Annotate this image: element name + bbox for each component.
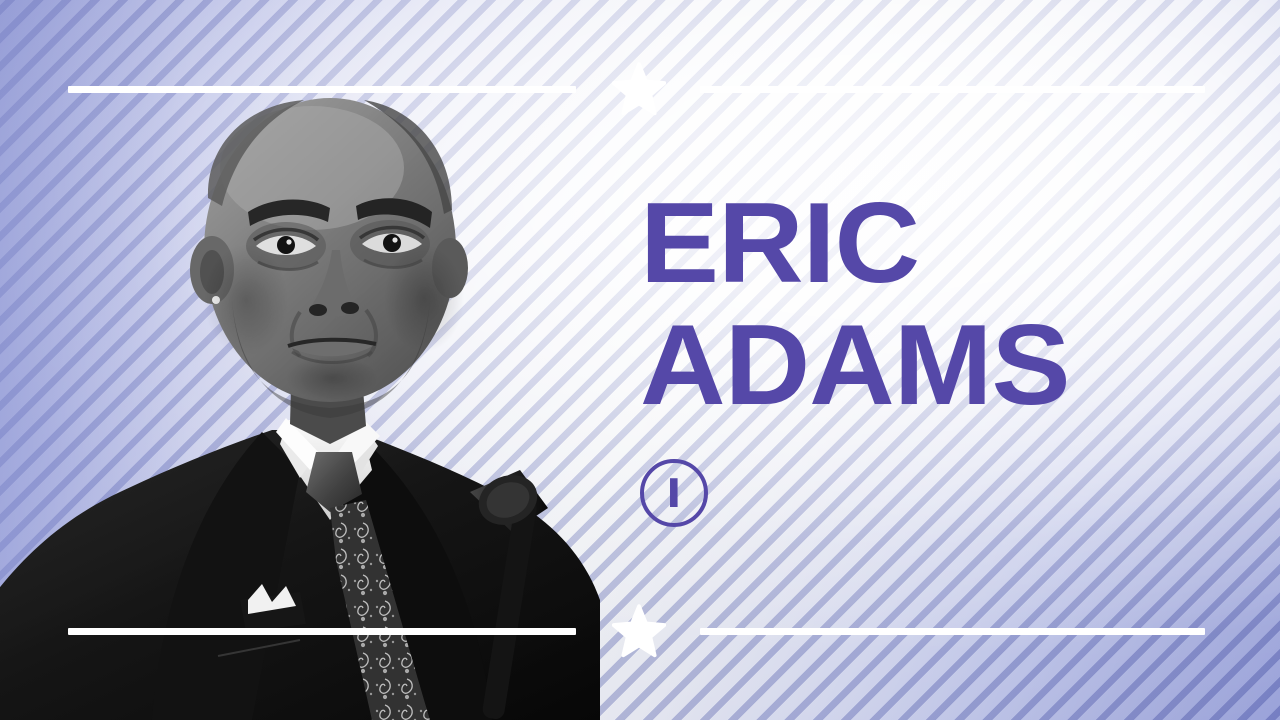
- party-badge: I: [640, 459, 708, 527]
- candidate-last-name: ADAMS: [640, 310, 1264, 422]
- star-icon-top: [612, 62, 666, 116]
- candidate-name-block: ERIC ADAMS: [640, 188, 1240, 421]
- rule-top-left: [68, 86, 576, 93]
- candidate-card: ERIC ADAMS I: [0, 0, 1280, 720]
- candidate-portrait: [0, 0, 620, 720]
- portrait-container: [0, 0, 620, 720]
- rule-bottom-left: [68, 628, 576, 635]
- candidate-first-name: ERIC: [640, 188, 1264, 300]
- star-icon-bottom: [612, 604, 666, 658]
- party-abbreviation-label: I: [667, 472, 682, 514]
- rule-top-right: [700, 86, 1205, 93]
- rule-bottom-right: [700, 628, 1205, 635]
